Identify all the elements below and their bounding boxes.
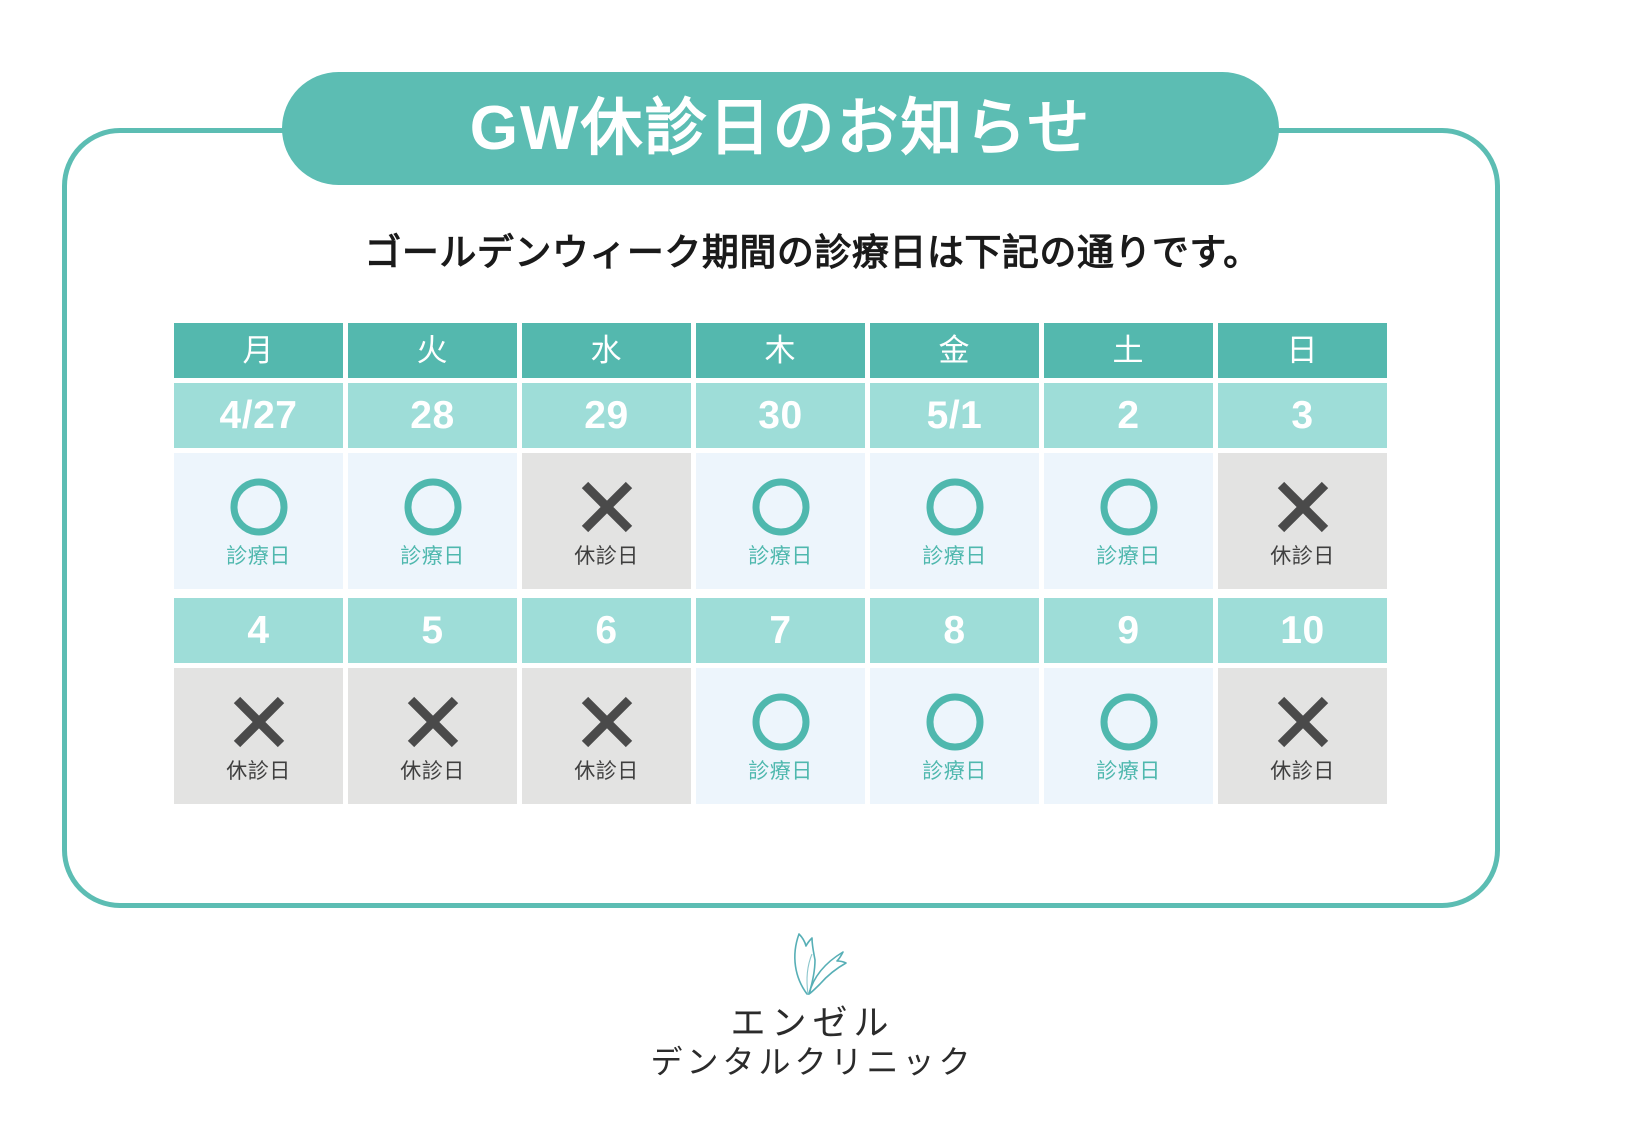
date-label: 3 <box>1291 396 1313 435</box>
date-cell: 9 <box>1044 598 1213 663</box>
status-label: 診療日 <box>748 761 813 782</box>
weekday-cell-mon: 月 <box>174 323 343 378</box>
status-cell: 休診日 <box>348 668 517 804</box>
date-label: 5/1 <box>927 396 983 435</box>
circle-icon <box>750 691 812 753</box>
circle-icon <box>1098 691 1160 753</box>
title-banner: GW休診日のお知らせ <box>282 72 1279 185</box>
date-label: 4/27 <box>220 396 298 435</box>
date-row-week2: 4 5 6 7 8 9 10 <box>174 598 1387 663</box>
status-cell: 診療日 <box>348 453 517 589</box>
status-label: 診療日 <box>922 546 987 567</box>
status-cell: 診療日 <box>1044 453 1213 589</box>
date-label: 10 <box>1280 611 1324 650</box>
circle-icon <box>924 476 986 538</box>
weekday-label: 土 <box>1113 335 1145 366</box>
cross-icon <box>402 691 464 753</box>
weekday-label: 金 <box>939 335 971 366</box>
weekday-cell-tue: 火 <box>348 323 517 378</box>
weekday-label: 木 <box>765 335 797 366</box>
date-label: 8 <box>943 611 965 650</box>
date-cell: 28 <box>348 383 517 448</box>
weekday-cell-thu: 木 <box>696 323 865 378</box>
status-label: 診療日 <box>1096 546 1161 567</box>
notice-poster: GW休診日のお知らせ ゴールデンウィーク期間の診療日は下記の通りです。 月 火 … <box>0 0 1625 1125</box>
status-label: 休診日 <box>1270 761 1335 782</box>
schedule-calendar: 月 火 水 木 金 土 日 4/27 28 29 30 5/1 2 3 診療日 <box>174 323 1387 804</box>
status-cell: 休診日 <box>522 453 691 589</box>
status-label: 休診日 <box>226 761 291 782</box>
status-label: 休診日 <box>400 761 465 782</box>
date-row-week1: 4/27 28 29 30 5/1 2 3 <box>174 383 1387 448</box>
date-label: 7 <box>769 611 791 650</box>
date-label: 29 <box>584 396 628 435</box>
cross-icon <box>576 691 638 753</box>
weekday-cell-fri: 金 <box>870 323 1039 378</box>
cross-icon <box>576 476 638 538</box>
weekday-header-row: 月 火 水 木 金 土 日 <box>174 323 1387 378</box>
page-title: GW休診日のお知らせ <box>470 98 1092 160</box>
cross-icon <box>228 691 290 753</box>
circle-icon <box>924 691 986 753</box>
status-label: 休診日 <box>1270 546 1335 567</box>
status-label: 診療日 <box>1096 761 1161 782</box>
date-label: 30 <box>758 396 802 435</box>
status-label: 診療日 <box>748 546 813 567</box>
date-cell: 8 <box>870 598 1039 663</box>
date-cell: 5/1 <box>870 383 1039 448</box>
date-label: 28 <box>410 396 454 435</box>
status-label: 休診日 <box>574 761 639 782</box>
weekday-label: 月 <box>243 335 275 366</box>
subtitle-text: ゴールデンウィーク期間の診療日は下記の通りです。 <box>0 222 1625 276</box>
date-label: 5 <box>421 611 443 650</box>
status-cell: 診療日 <box>870 453 1039 589</box>
status-label: 休診日 <box>574 546 639 567</box>
status-cell: 診療日 <box>174 453 343 589</box>
date-cell: 10 <box>1218 598 1387 663</box>
date-cell: 6 <box>522 598 691 663</box>
weekday-label: 日 <box>1287 335 1319 366</box>
date-cell: 2 <box>1044 383 1213 448</box>
status-cell: 休診日 <box>1218 453 1387 589</box>
status-label: 診療日 <box>922 761 987 782</box>
status-cell: 診療日 <box>696 453 865 589</box>
status-cell: 休診日 <box>522 668 691 804</box>
date-cell: 29 <box>522 383 691 448</box>
weekday-cell-sat: 土 <box>1044 323 1213 378</box>
angel-wings-icon <box>765 920 861 998</box>
weekday-label: 水 <box>591 335 623 366</box>
date-label: 6 <box>595 611 617 650</box>
status-row-week2: 休診日 休診日 休診日 診療日 <box>174 668 1387 804</box>
status-row-week1: 診療日 診療日 休診日 診療日 <box>174 453 1387 589</box>
weekday-label: 火 <box>417 335 449 366</box>
status-label: 診療日 <box>400 546 465 567</box>
date-cell: 7 <box>696 598 865 663</box>
circle-icon <box>228 476 290 538</box>
date-cell: 5 <box>348 598 517 663</box>
weekday-cell-wed: 水 <box>522 323 691 378</box>
clinic-subname: デンタルクリニック <box>650 1044 974 1081</box>
status-cell: 診療日 <box>1044 668 1213 804</box>
date-label: 9 <box>1117 611 1139 650</box>
date-cell: 4 <box>174 598 343 663</box>
circle-icon <box>1098 476 1160 538</box>
cross-icon <box>1272 691 1334 753</box>
status-cell: 休診日 <box>1218 668 1387 804</box>
status-cell: 診療日 <box>696 668 865 804</box>
status-cell: 診療日 <box>870 668 1039 804</box>
cross-icon <box>1272 476 1334 538</box>
circle-icon <box>750 476 812 538</box>
clinic-logo: エンゼル デンタルクリニック <box>0 920 1625 1081</box>
date-label: 4 <box>247 611 269 650</box>
circle-icon <box>402 476 464 538</box>
date-cell: 30 <box>696 383 865 448</box>
date-cell: 4/27 <box>174 383 343 448</box>
date-cell: 3 <box>1218 383 1387 448</box>
status-cell: 休診日 <box>174 668 343 804</box>
clinic-name: エンゼル <box>730 1004 894 1044</box>
date-label: 2 <box>1117 396 1139 435</box>
status-label: 診療日 <box>226 546 291 567</box>
weekday-cell-sun: 日 <box>1218 323 1387 378</box>
